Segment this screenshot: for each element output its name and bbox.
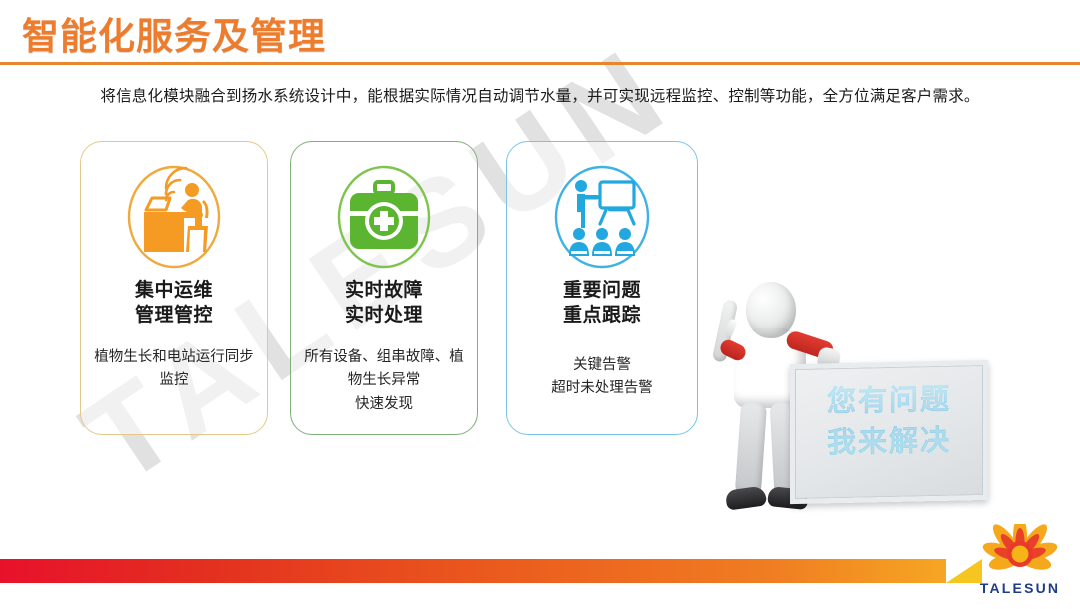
presenter-audience-icon	[507, 164, 697, 270]
feature-card-title: 重要问题 重点跟踪	[507, 278, 697, 329]
title-divider	[0, 62, 1080, 65]
sign-text-line2: 我来解决	[795, 420, 983, 465]
sign-text: 您有问题 我来解决	[795, 379, 983, 465]
feature-card-description: 所有设备、组串故障、植物生长异常 快速发现	[299, 346, 469, 416]
mascot-sign-board: 您有问题 我来解决	[790, 360, 988, 504]
sign-text-line1: 您有问题	[795, 379, 983, 424]
person-at-desk-wifi-icon	[81, 164, 267, 270]
mascot-left-shoe	[725, 485, 767, 510]
feature-card-description: 植物生长和电站运行同步监控	[89, 346, 259, 393]
feature-card-title-line1: 实时故障	[291, 278, 477, 303]
mascot-left-leg	[735, 401, 767, 495]
feature-card-description: 关键告警 超时未处理告警	[515, 354, 689, 401]
mascot-scene: 您有问题 我来解决	[690, 270, 1010, 525]
page-subtitle: 将信息化模块融合到扬水系统设计中，能根据实际情况自动调节水量，并可实现远程监控、…	[0, 84, 1080, 106]
mascot-pointing-finger	[724, 318, 738, 338]
feature-card-title: 集中运维 管理管控	[81, 278, 267, 329]
footer-gradient-bar	[0, 559, 946, 583]
feature-card-key-issue-tracking[interactable]: 重要问题 重点跟踪 关键告警 超时未处理告警	[506, 141, 698, 435]
feature-card-centralized-ops[interactable]: 集中运维 管理管控 植物生长和电站运行同步监控	[80, 141, 268, 435]
talesun-sun-logo: TALESUN	[968, 524, 1072, 600]
feature-card-title-line1: 集中运维	[81, 278, 267, 303]
feature-card-title-line1: 重要问题	[507, 278, 697, 303]
feature-card-title-line2: 实时处理	[291, 303, 477, 328]
feature-card-title: 实时故障 实时处理	[291, 278, 477, 329]
page-title: 智能化服务及管理	[22, 6, 326, 60]
slide-root: TALESUN 智能化服务及管理 将信息化模块融合到扬水系统设计中，能根据实际情…	[0, 0, 1080, 609]
medical-kit-icon	[291, 164, 477, 270]
feature-card-title-line2: 重点跟踪	[507, 303, 697, 328]
feature-card-realtime-fault[interactable]: 实时故障 实时处理 所有设备、组串故障、植物生长异常 快速发现	[290, 141, 478, 435]
logo-wordmark: TALESUN	[968, 580, 1072, 596]
feature-card-title-line2: 管理管控	[81, 303, 267, 328]
